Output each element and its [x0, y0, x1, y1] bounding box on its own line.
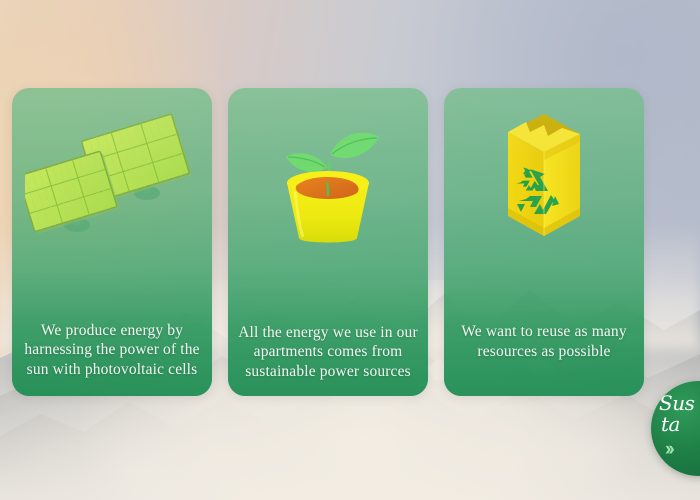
- info-card-reuse-resources[interactable]: We want to reuse as many resources as po…: [444, 88, 644, 396]
- double-chevron-right-icon: ››: [665, 439, 672, 461]
- card-caption: We produce energy by harnessing the powe…: [22, 321, 202, 380]
- solar-panels-icon: [12, 102, 212, 252]
- badge-label: Sus ta: [659, 393, 694, 435]
- potted-plant-icon: [228, 102, 428, 252]
- card-caption: All the energy we use in our apartments …: [238, 323, 418, 382]
- recycling-bag-icon: [444, 102, 644, 252]
- info-card-solar-energy[interactable]: We produce energy by harnessing the powe…: [12, 88, 212, 396]
- card-caption: We want to reuse as many resources as po…: [454, 322, 634, 362]
- badge-line-2: ta: [661, 414, 694, 435]
- card-row: We produce energy by harnessing the powe…: [0, 0, 700, 500]
- info-card-sustainable-power[interactable]: All the energy we use in our apartments …: [228, 88, 428, 396]
